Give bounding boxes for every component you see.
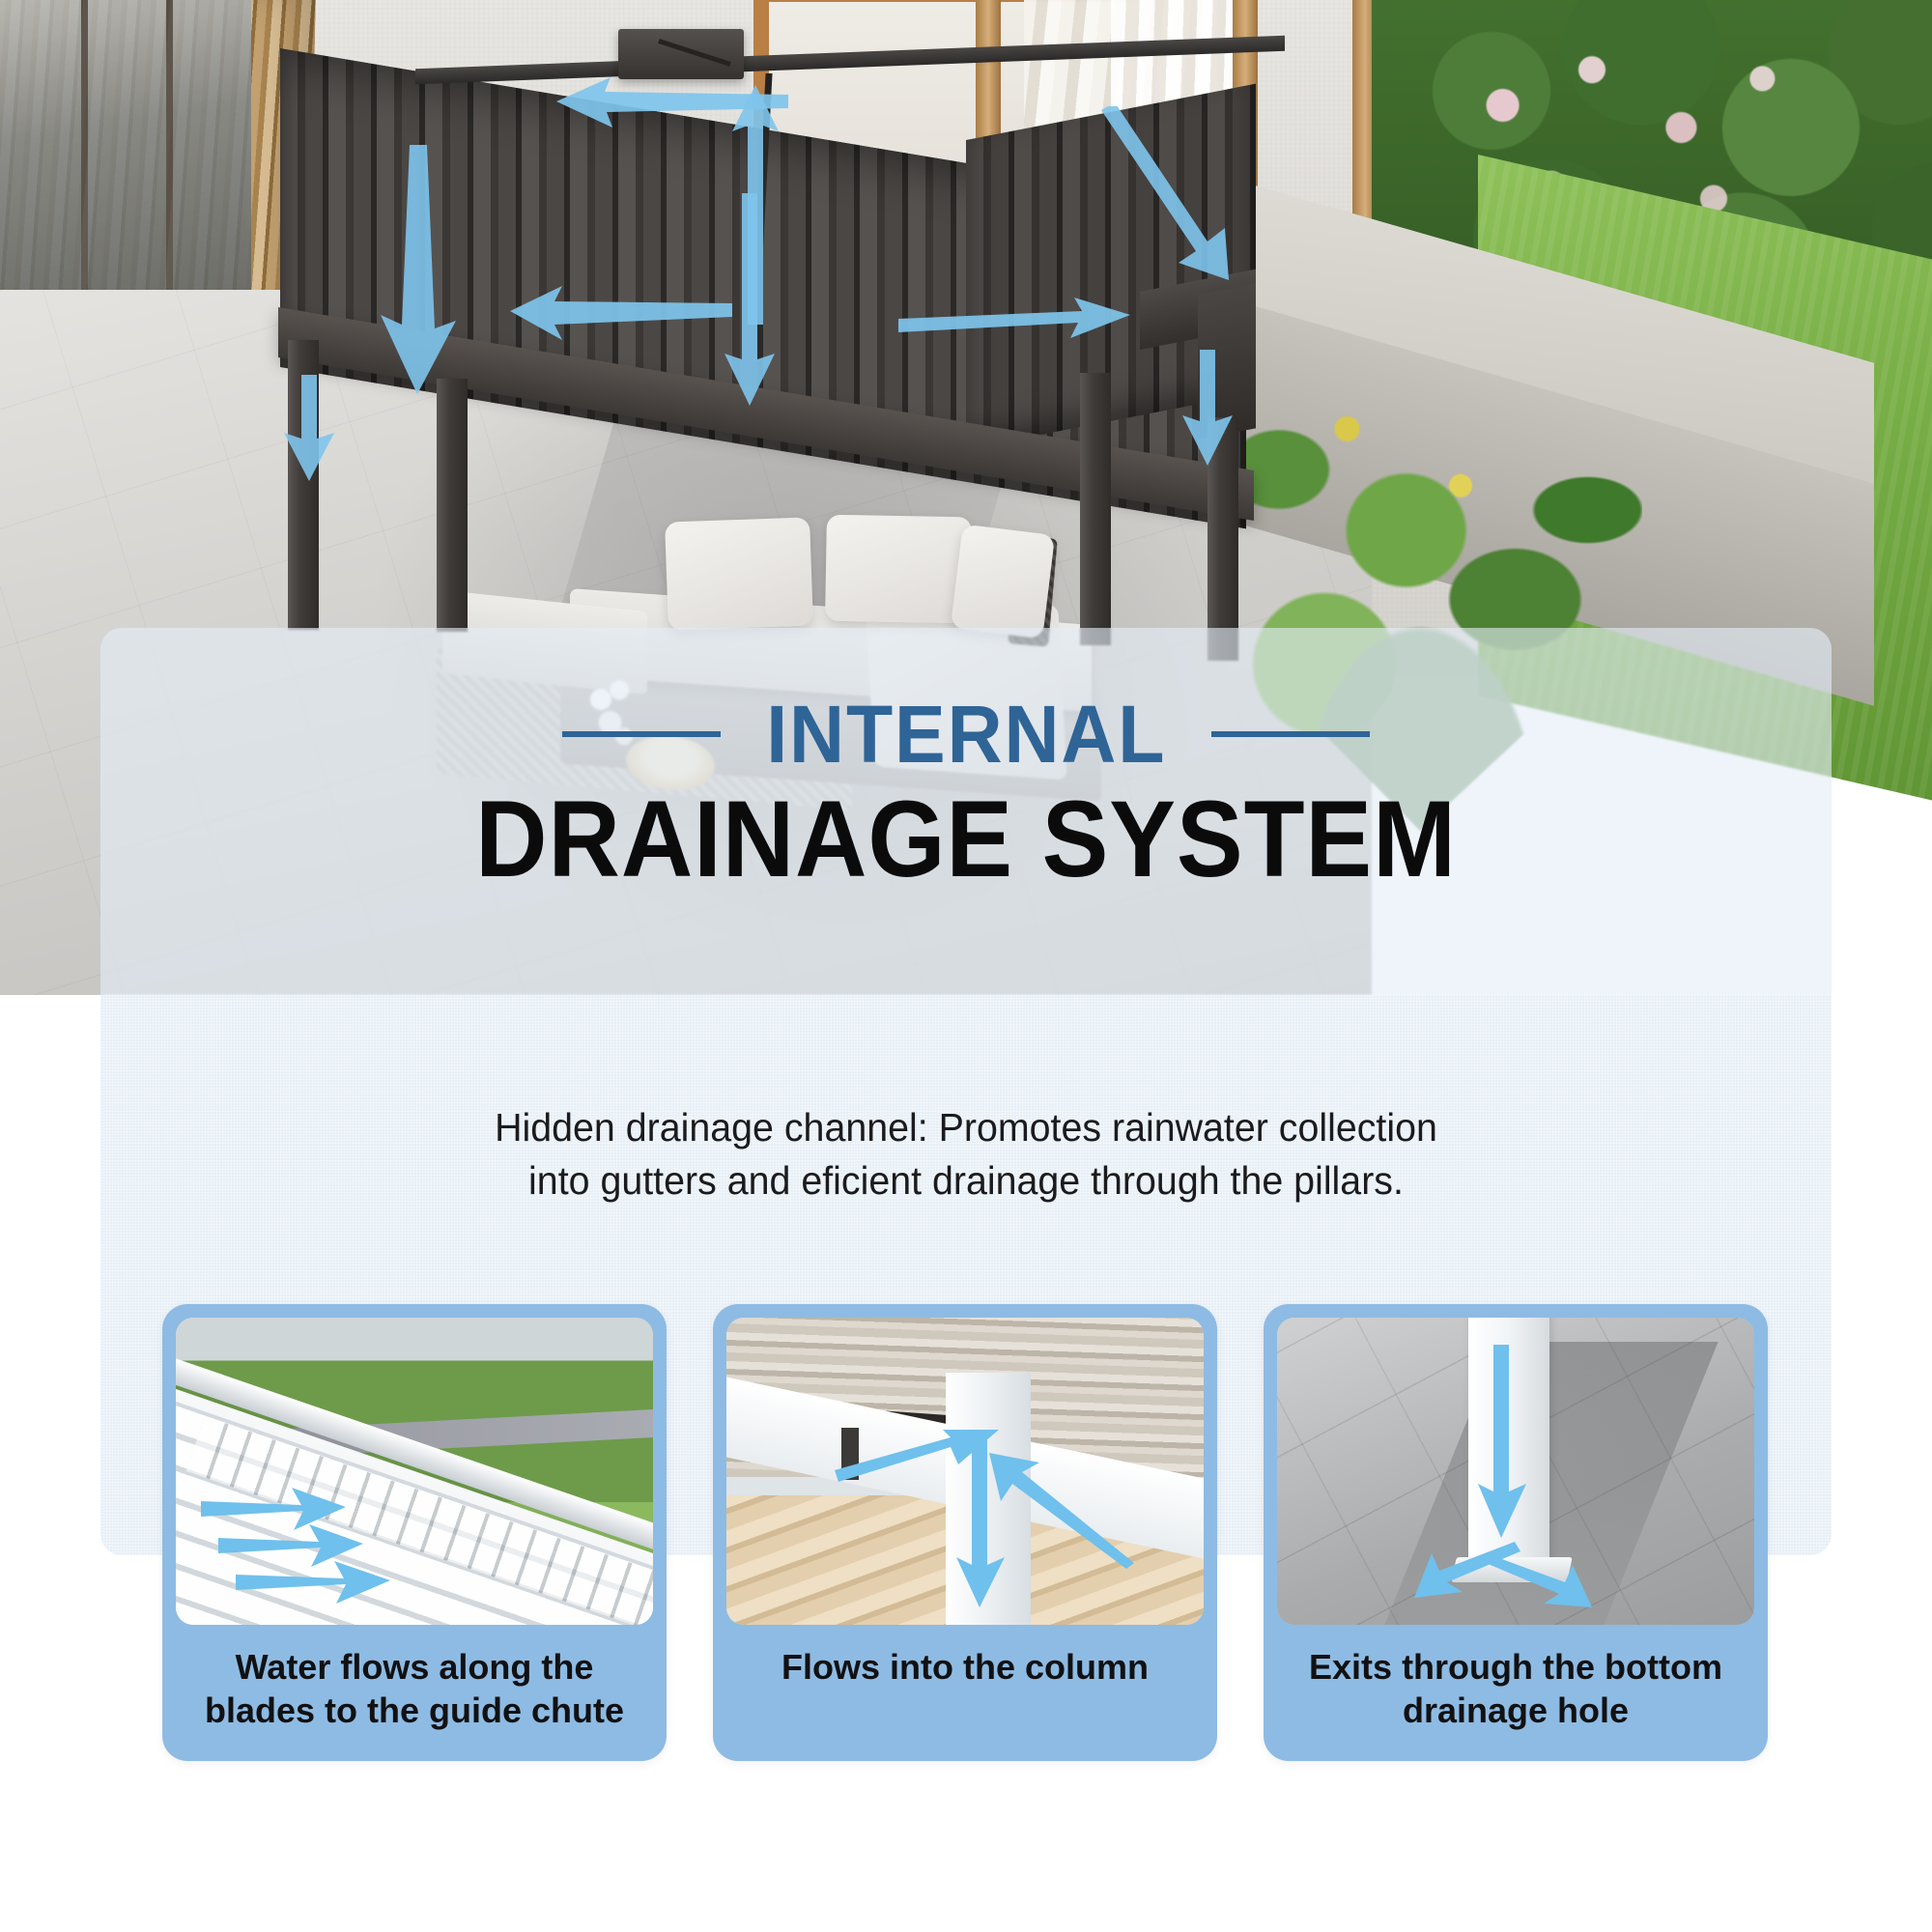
- flow-arrow-post-right-down: [1180, 350, 1236, 466]
- flow-arrow-into-column-left: [989, 1453, 1134, 1569]
- flow-arrow-exit-right: [1486, 1555, 1592, 1609]
- pergola-post-rear-right: [1080, 373, 1111, 645]
- flow-arrow-column-down: [954, 1434, 1009, 1607]
- subtitle-line-1: Hidden drainage channel: Promotes rainwa…: [39, 1101, 1893, 1154]
- flow-arrow-blade-3: [236, 1561, 390, 1605]
- page-title: DRAINAGE SYSTEM: [77, 784, 1855, 895]
- subtitle-block: Hidden drainage channel: Promotes rainwa…: [39, 1101, 1893, 1208]
- card-caption-blades: Water flows along the blades to the guid…: [162, 1625, 667, 1761]
- roof-motor-housing: [618, 29, 744, 79]
- feature-cards: Water flows along the blades to the guid…: [162, 1304, 1770, 1761]
- flow-arrow-down-post: [1476, 1345, 1530, 1538]
- flow-arrow-roof-left-diagonal: [359, 145, 475, 396]
- eyebrow-row: INTERNAL: [0, 694, 1932, 775]
- card-column[interactable]: Flows into the column: [713, 1304, 1217, 1761]
- post-bottom-drainage-hole-photo: [1277, 1318, 1754, 1625]
- card-blades[interactable]: Water flows along the blades to the guid…: [162, 1304, 667, 1761]
- gutter-into-column-corner-photo: [726, 1318, 1204, 1625]
- roof-top-rail: [415, 36, 1285, 85]
- rule-left: [562, 731, 721, 737]
- card-caption-drain-hole: Exits through the bottom drainage hole: [1264, 1625, 1768, 1761]
- pergola-post-rear-left: [437, 379, 468, 632]
- flow-arrow-post-left-down: [282, 375, 338, 481]
- subtitle-line-2: into gutters and eficient drainage throu…: [39, 1154, 1893, 1207]
- heading-block: INTERNAL DRAINAGE SYSTEM: [0, 694, 1932, 895]
- rule-right: [1211, 731, 1370, 737]
- white-louver-blades-guide-chute-photo: [176, 1318, 653, 1625]
- card-caption-column: Flows into the column: [713, 1625, 1217, 1719]
- flow-arrow-roof-right-diagonal: [1094, 106, 1238, 280]
- eyebrow-text: INTERNAL: [766, 694, 1166, 775]
- flow-arrow-gutter-left: [510, 286, 732, 340]
- card-drain-hole[interactable]: Exits through the bottom drainage hole: [1264, 1304, 1768, 1761]
- flow-arrow-gutter-right: [898, 298, 1130, 352]
